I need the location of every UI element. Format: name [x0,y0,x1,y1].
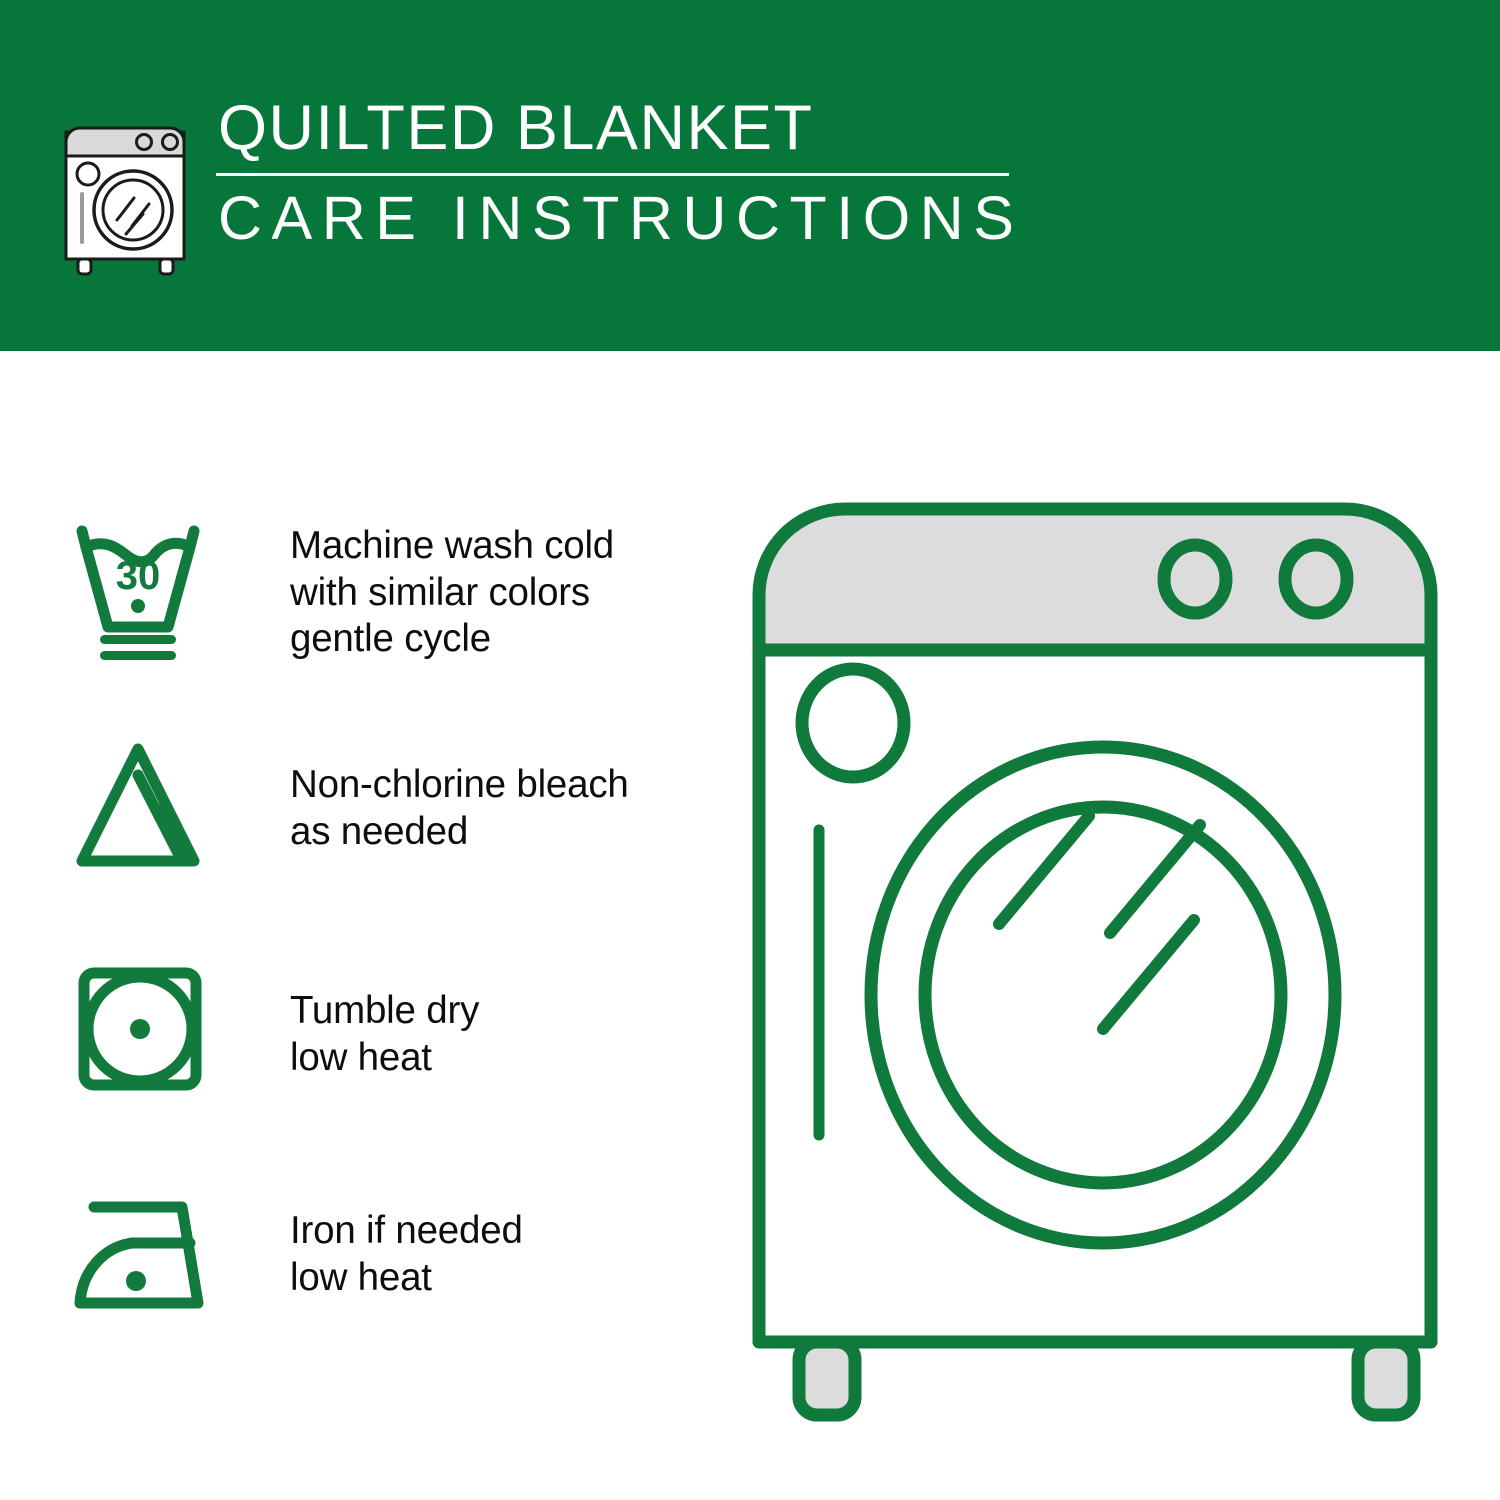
washing-machine-icon [60,102,198,278]
wash-temperature-value: 30 [116,554,161,598]
care-item-label: Machine wash cold with similar colors ge… [290,523,614,663]
title-divider [216,173,1009,176]
care-item-label: Non-chlorine bleach as needed [290,762,629,856]
machine-wash-30-gentle-symbol: 30 [70,517,238,669]
iron-low-heat-symbol [70,1179,238,1331]
page-title: QUILTED BLANKET [216,96,1023,160]
care-item-tumble-dry: Tumble dry low heat [70,959,710,1111]
front-load-washing-machine-illustration [745,495,1475,1425]
care-instructions-list: 30 Machine wash cold with similar colors… [0,351,720,1500]
care-item-bleach: Non-chlorine bleach as needed [70,733,710,885]
care-item-machine-wash: 30 Machine wash cold with similar colors… [70,517,710,669]
non-chlorine-bleach-symbol [70,733,238,885]
tumble-dry-low-symbol [70,959,238,1111]
page-subtitle: CARE INSTRUCTIONS [216,187,1023,249]
care-item-iron: Iron if needed low heat [70,1179,710,1331]
care-item-label: Iron if needed low heat [290,1208,523,1302]
care-item-label: Tumble dry low heat [290,988,479,1082]
header-banner: QUILTED BLANKET CARE INSTRUCTIONS [0,0,1500,351]
header-content: QUILTED BLANKET CARE INSTRUCTIONS [60,92,1023,278]
header-title-block: QUILTED BLANKET CARE INSTRUCTIONS [216,92,1023,249]
